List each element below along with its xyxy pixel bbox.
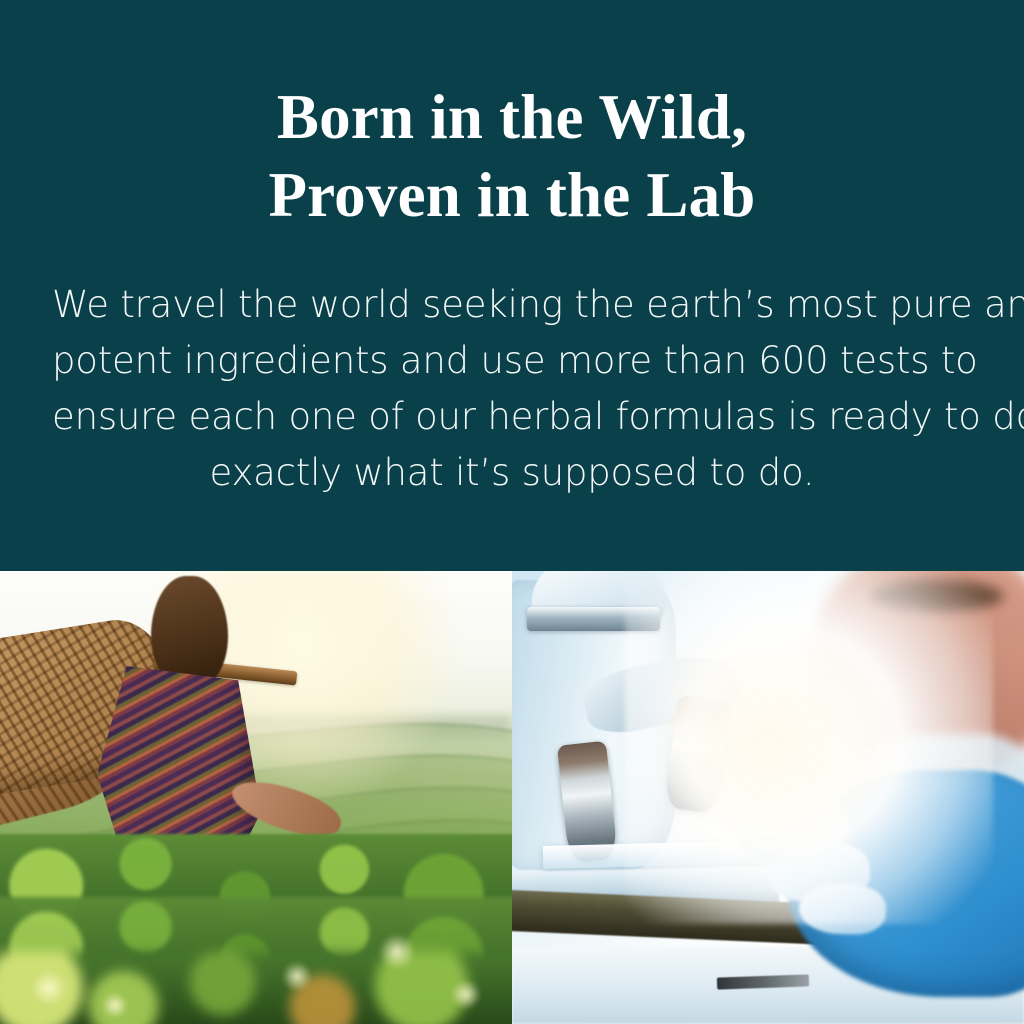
tea-bushes-foreground bbox=[0, 952, 512, 1024]
tea-harvester-photo bbox=[0, 571, 512, 1024]
photo-strip bbox=[0, 571, 1024, 1024]
headline-line-1: Born in the Wild, bbox=[0, 78, 1024, 156]
body-copy: We travel the world seeking the earth’s … bbox=[52, 277, 972, 501]
bokeh-highlight bbox=[31, 970, 67, 1006]
headline-line-2: Proven in the Lab bbox=[0, 156, 1024, 234]
teal-copy-panel: Born in the Wild, Proven in the Lab We t… bbox=[0, 0, 1024, 571]
laboratory-microscope-photo bbox=[512, 571, 1024, 1024]
lens-flare bbox=[666, 607, 922, 879]
headline: Born in the Wild, Proven in the Lab bbox=[0, 78, 1024, 234]
body-line-1: We travel the world seeking the earth’s … bbox=[52, 277, 972, 333]
body-line-4: exactly what it’s supposed to do. bbox=[52, 445, 972, 501]
body-line-3: ensure each one of our herbal formulas i… bbox=[52, 389, 972, 445]
harvester-head bbox=[151, 576, 228, 685]
bokeh-highlight bbox=[379, 933, 415, 969]
body-line-2: potent ingredients and use more than 600… bbox=[52, 333, 972, 389]
promo-canvas: Born in the Wild, Proven in the Lab We t… bbox=[0, 0, 1024, 1024]
